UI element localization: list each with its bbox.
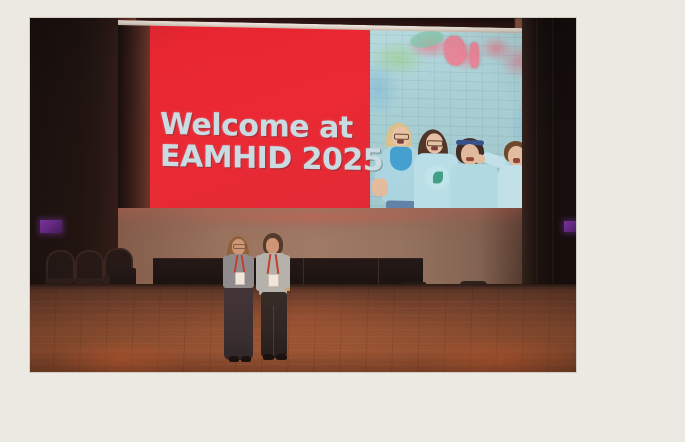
wristwatch (286, 288, 290, 291)
slide-title: Welcome at EAMHID 2025 (160, 109, 440, 178)
photograph: Welcome at EAMHID 2025 (30, 18, 576, 372)
floor-edge-shadow (30, 284, 576, 290)
stage-curtain-right (522, 18, 576, 298)
purple-light-panel-left (40, 220, 62, 233)
stage-curtain-left (30, 18, 118, 288)
image-canvas: Welcome at EAMHID 2025 (0, 0, 685, 442)
screen-glow (116, 214, 522, 234)
name-badge-left (235, 272, 245, 285)
projection-screen: Welcome at EAMHID 2025 (116, 20, 522, 226)
purple-light-panel-right (564, 221, 576, 232)
screen-left-shadow (116, 23, 152, 220)
stage-floor (30, 284, 576, 372)
name-badge-right (268, 274, 279, 287)
graffiti-letter-b (444, 36, 466, 66)
graffiti-letter-i (470, 42, 479, 68)
